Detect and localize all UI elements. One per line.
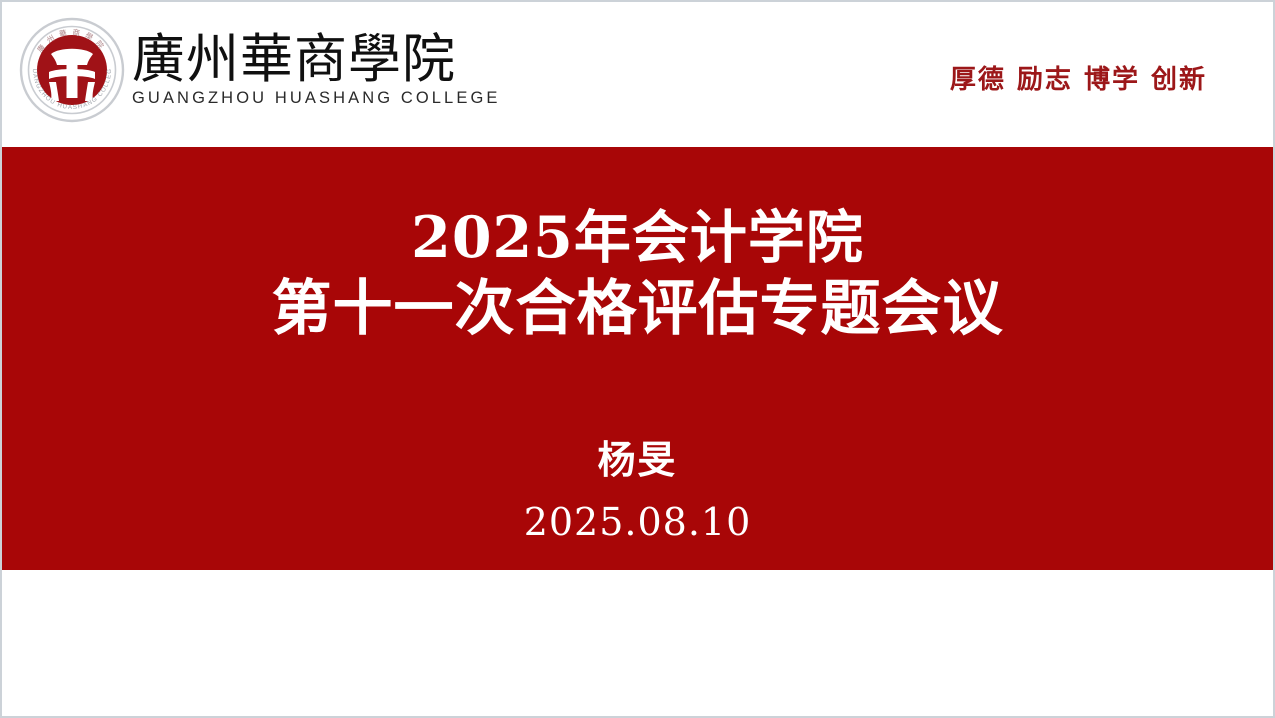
slide-header: GUANGZHOU HUASHANG COLLEGE 廣州華商學院 廣州華商學院… bbox=[2, 2, 1273, 147]
college-seal-icon: GUANGZHOU HUASHANG COLLEGE 廣州華商學院 bbox=[18, 16, 126, 124]
college-name-en: GUANGZHOU HUASHANG COLLEGE bbox=[132, 89, 500, 108]
title-banner: 2025年会计学院 第十一次合格评估专题会议 杨旻 2025.08.10 bbox=[2, 147, 1273, 570]
title-line-2: 第十一次合格评估专题会议 bbox=[2, 273, 1273, 346]
slide-footer bbox=[2, 570, 1273, 716]
college-name-cn: 廣州華商學院 bbox=[132, 32, 500, 87]
presentation-date: 2025.08.10 bbox=[2, 500, 1273, 544]
college-logo: GUANGZHOU HUASHANG COLLEGE 廣州華商學院 廣州華商學院… bbox=[18, 16, 500, 124]
college-logo-text: 廣州華商學院 GUANGZHOU HUASHANG COLLEGE bbox=[132, 32, 500, 108]
presentation-slide: GUANGZHOU HUASHANG COLLEGE 廣州華商學院 廣州華商學院… bbox=[0, 0, 1275, 718]
presenter-name: 杨旻 bbox=[2, 429, 1273, 484]
college-motto: 厚德 励志 博学 创新 bbox=[950, 59, 1207, 96]
slide-title: 2025年会计学院 第十一次合格评估专题会议 bbox=[2, 203, 1273, 346]
title-line-1: 2025年会计学院 bbox=[2, 203, 1273, 273]
